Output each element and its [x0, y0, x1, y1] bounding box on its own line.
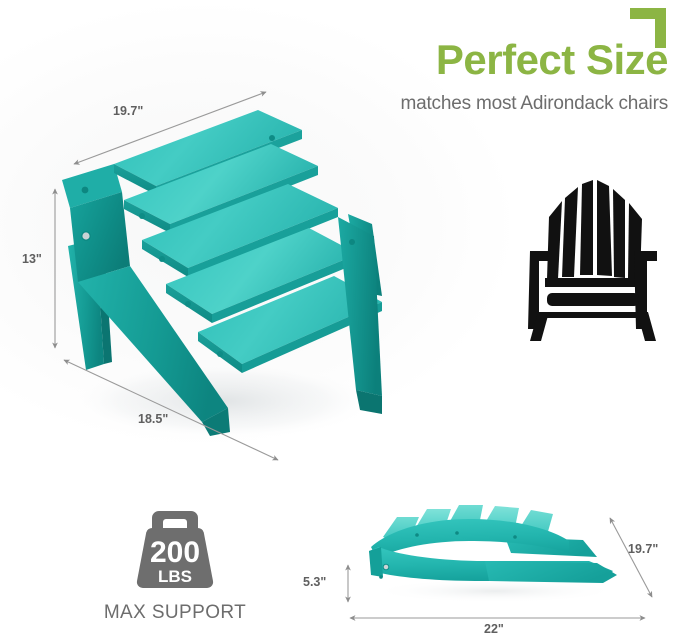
weight-value-text: 200 [150, 536, 200, 569]
hero-ottoman-svg [52, 96, 412, 456]
screw-head [139, 213, 145, 219]
screw-head [379, 575, 383, 579]
weight-unit-text: LBS [158, 567, 192, 586]
weight-icon-svg: 200 LBS [125, 503, 225, 593]
adirondack-chair-icon [505, 165, 670, 345]
max-support-caption: MAX SUPPORT [60, 602, 290, 624]
screw-head [513, 535, 517, 539]
folded-ottoman-illustration [345, 495, 635, 615]
folded-depth-label: 19.7" [628, 542, 658, 556]
weight-handle [152, 511, 198, 528]
screw-head [185, 301, 191, 307]
screw-head [159, 256, 165, 262]
hero-ottoman-illustration [52, 96, 412, 456]
screw-head [349, 239, 355, 245]
infographic-page: Perfect Size matches most Adirondack cha… [0, 0, 679, 641]
screw-head [383, 564, 389, 570]
folded-ottoman-svg [345, 495, 635, 615]
hero-depth-label: 18.5" [138, 412, 168, 426]
screw-head [217, 351, 223, 357]
weight-icon: 200 LBS [125, 503, 225, 593]
folded-width-label: 22" [484, 622, 504, 636]
folded-front-cap [369, 547, 383, 577]
folded-height-label: 5.3" [303, 575, 326, 589]
max-support-badge: 200 LBS MAX SUPPORT [60, 503, 290, 624]
screw-head [82, 232, 90, 240]
screw-head [455, 531, 459, 535]
hero-width-label: 19.7" [113, 104, 143, 118]
hero-height-label: 13" [22, 252, 42, 266]
screw-head [415, 533, 419, 537]
screw-head [82, 187, 89, 194]
folded-front-runner [485, 561, 617, 583]
screw-head [269, 135, 275, 141]
adirondack-chair-svg [505, 165, 670, 345]
page-title: Perfect Size [300, 38, 668, 83]
